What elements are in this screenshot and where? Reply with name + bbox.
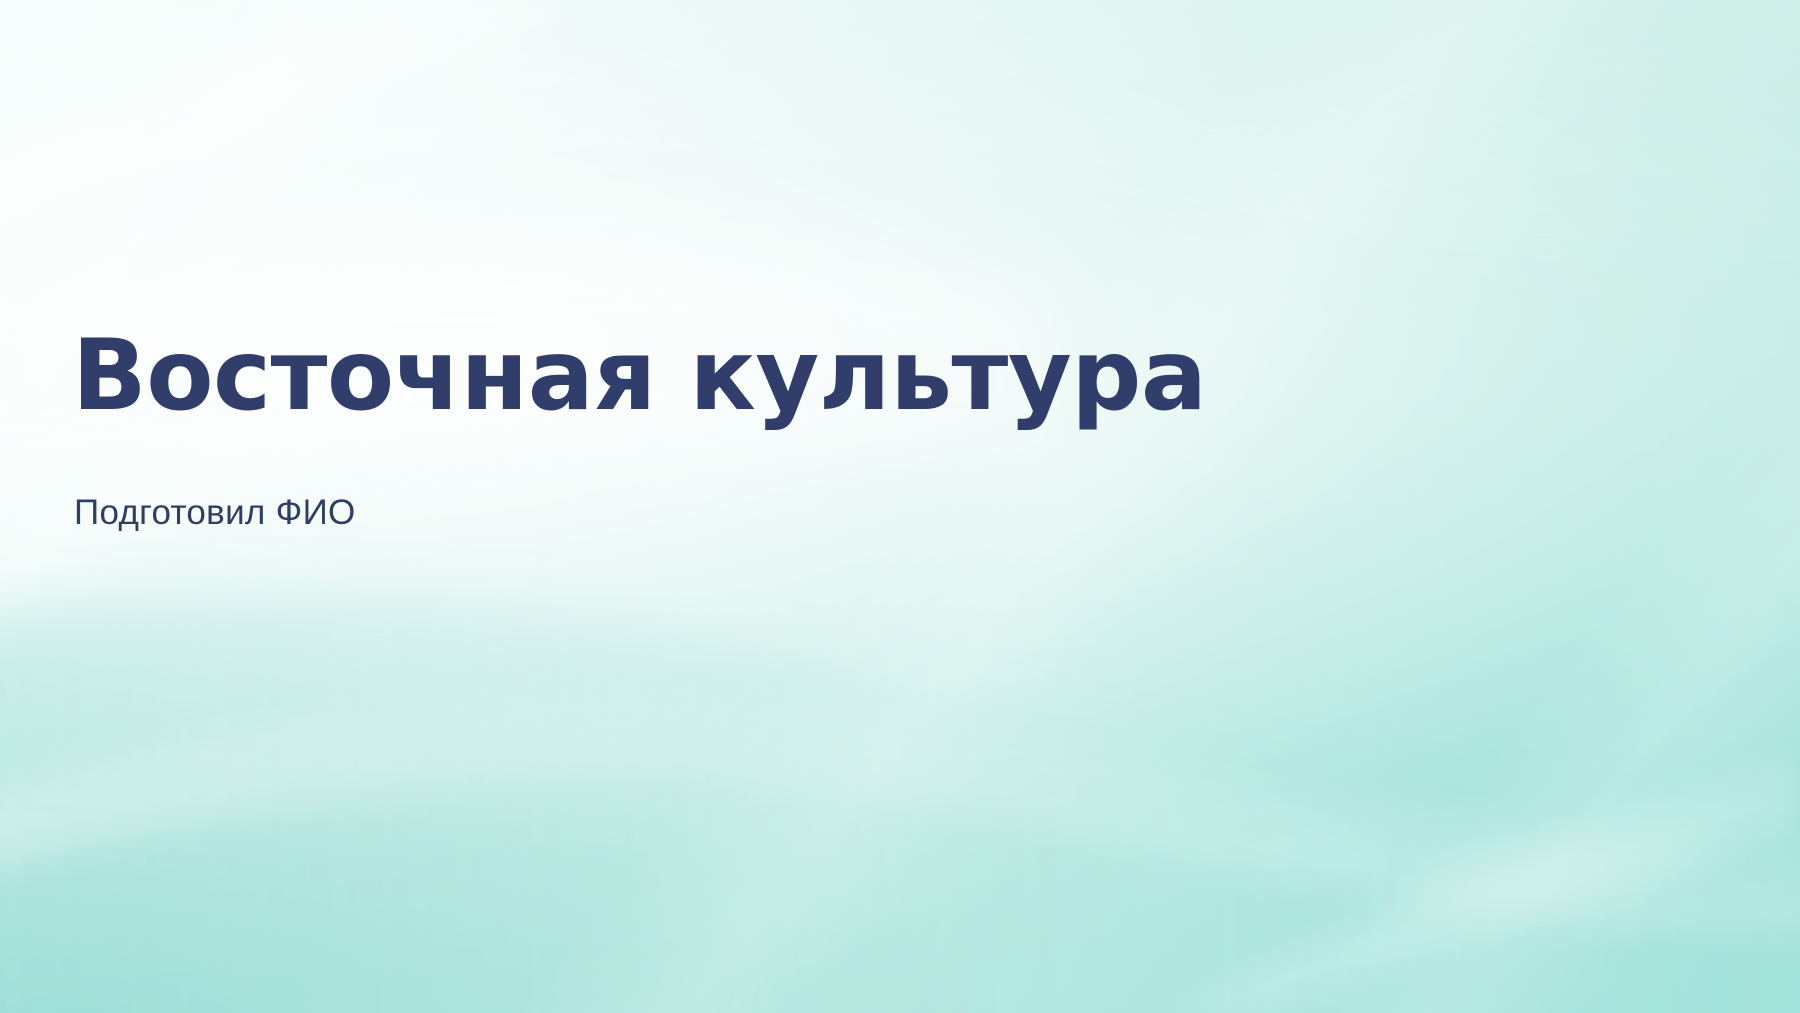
page-title: Восточная культура xyxy=(72,327,1207,425)
slide-author-line: Подготовил ФИО xyxy=(74,492,356,534)
slide-content: Восточная культура Подготовил ФИО xyxy=(72,0,1572,1013)
presentation-title-slide: Восточная культура Подготовил ФИО xyxy=(0,0,1800,1013)
